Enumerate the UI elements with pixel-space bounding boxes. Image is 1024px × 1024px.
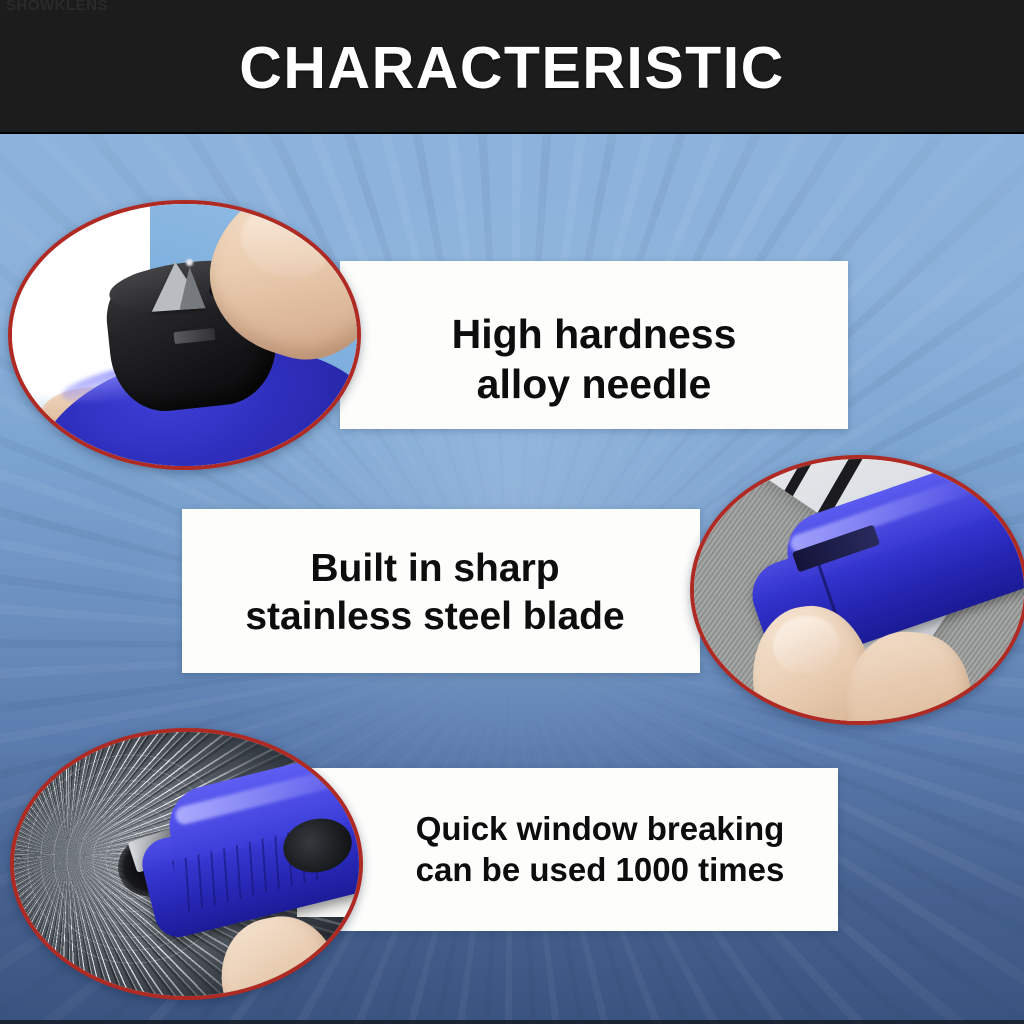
- photo-content-3: [14, 732, 359, 996]
- brand-watermark: SHOWKLENS: [6, 0, 108, 14]
- feature-caption-1: High hardness alloy needle: [438, 309, 751, 409]
- photo-content-1: [12, 204, 357, 466]
- feature-panel-3: Quick window breaking can be used 1000 t…: [310, 768, 838, 931]
- bottom-edge-line: [0, 1020, 1024, 1024]
- product-infographic: SHOWKLENS CHARACTERISTIC High hardness a…: [0, 0, 1024, 1024]
- page-title: CHARACTERISTIC: [0, 34, 1024, 102]
- feature-photo-seatbelt-blade: [690, 455, 1024, 725]
- feature-photo-alloy-needle: [8, 200, 361, 470]
- photo1-needle-shadow: [176, 266, 205, 310]
- feature-caption-2: Built in sharp stainless steel blade: [231, 545, 638, 640]
- feature-panel-2: Built in sharp stainless steel blade: [182, 509, 700, 673]
- feature-photo-window-breaking: [10, 728, 363, 1000]
- header-band: SHOWKLENS CHARACTERISTIC: [0, 0, 1024, 134]
- feature-caption-3: Quick window breaking can be used 1000 t…: [402, 809, 799, 890]
- feature-panel-1: High hardness alloy needle: [340, 261, 848, 429]
- photo-content-2: [694, 459, 1024, 721]
